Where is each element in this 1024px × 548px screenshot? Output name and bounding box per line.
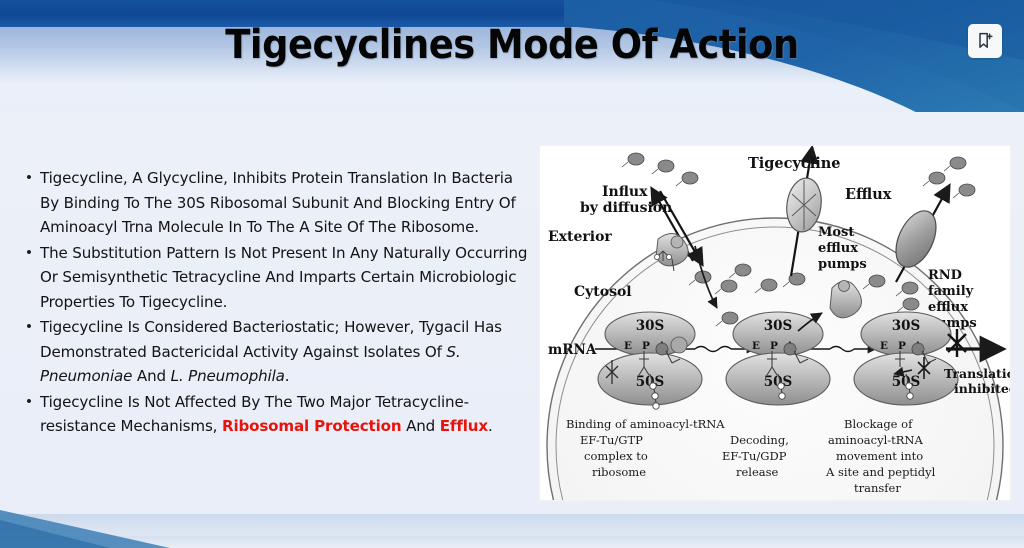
label-influx-1: Influx xyxy=(602,184,648,200)
bookmark-add-button[interactable] xyxy=(968,24,1002,58)
label-rnd-3: efflux xyxy=(928,300,968,315)
bullet-marker: • xyxy=(18,390,40,415)
caption-step1-4: ribosome xyxy=(592,465,646,479)
label-translation-inhibited-1: Translation xyxy=(944,366,1010,381)
bullet-text-3: Tigecycline Is Considered Bacteriostatic… xyxy=(40,315,530,389)
label-site-p-1: P xyxy=(642,340,650,352)
caption-step3-2: aminoacyl-tRNA xyxy=(828,433,923,447)
caption-step2-2: EF-Tu/GDP xyxy=(722,449,787,463)
caption-step1-1: Binding of aminoacyl-tRNA xyxy=(566,417,725,431)
label-mrna: mRNA xyxy=(548,342,597,358)
caption-step3-3: movement into xyxy=(836,449,923,463)
bullet-marker: • xyxy=(18,315,40,340)
label-site-p-3: P xyxy=(898,340,906,352)
bullet-list: • Tigecycline, A Glycycline, Inhibits Pr… xyxy=(18,166,530,440)
label-30s-3: 30S xyxy=(892,318,921,334)
caption-step1-3: complex to xyxy=(584,449,648,463)
label-exterior: Exterior xyxy=(548,229,612,245)
bullet-marker: • xyxy=(18,241,40,266)
label-translation-inhibited-2: inhibited xyxy=(954,381,1010,396)
caption-step1-2: EF-Tu/GTP xyxy=(580,433,643,447)
label-efflux: Efflux xyxy=(845,186,892,203)
caption-step3-4: A site and peptidyl xyxy=(825,465,936,479)
caption-step2-1: Decoding, xyxy=(730,433,789,447)
caption-step2-3: release xyxy=(736,465,779,479)
slide-footer xyxy=(0,492,1024,548)
footer-triangle-decoration xyxy=(0,510,200,548)
slide-header: Tigecyclines Mode Of Action xyxy=(0,0,1024,112)
bullet-text-2: The Substitution Pattern Is Not Present … xyxy=(40,241,530,315)
bullet-text-1: Tigecycline, A Glycycline, Inhibits Prot… xyxy=(40,166,530,240)
label-site-p-2: P xyxy=(770,340,778,352)
slide: Tigecyclines Mode Of Action • Tigecyclin… xyxy=(0,0,1024,548)
label-most-efflux-3: pumps xyxy=(818,257,867,272)
label-site-e-2: E xyxy=(752,340,760,352)
label-site-e-3: E xyxy=(880,340,888,352)
page-title: Tigecyclines Mode Of Action xyxy=(41,22,983,68)
bookmark-add-icon xyxy=(977,32,994,50)
label-30s-1: 30S xyxy=(636,318,665,334)
ribosome-complex-1: 30S 50S E P A xyxy=(598,312,702,409)
bullet-marker: • xyxy=(18,166,40,191)
label-most-efflux-2: efflux xyxy=(818,241,858,256)
label-rnd-2: family xyxy=(928,284,974,299)
label-site-e-1: E xyxy=(624,340,632,352)
label-cytosol: Cytosol xyxy=(574,284,632,300)
list-item: • Tigecycline Is Not Affected By The Two… xyxy=(18,390,530,439)
mechanism-diagram: Tigecycline Influx by diffusion Exterior… xyxy=(540,146,1010,500)
label-30s-2: 30S xyxy=(764,318,793,334)
list-item: • Tigecycline, A Glycycline, Inhibits Pr… xyxy=(18,166,530,240)
bullet-text-4: Tigecycline Is Not Affected By The Two M… xyxy=(40,390,530,439)
label-tigecycline: Tigecycline xyxy=(748,155,841,172)
label-rnd-1: RND xyxy=(928,268,962,283)
label-most-efflux-1: Most xyxy=(818,225,854,240)
mechanism-diagram-panel: Tigecycline Influx by diffusion Exterior… xyxy=(540,146,1010,500)
list-item: • The Substitution Pattern Is Not Presen… xyxy=(18,241,530,315)
label-influx-2: by diffusion xyxy=(580,200,672,216)
list-item: • Tigecycline Is Considered Bacteriostat… xyxy=(18,315,530,389)
caption-step3-1: Blockage of xyxy=(844,417,913,431)
